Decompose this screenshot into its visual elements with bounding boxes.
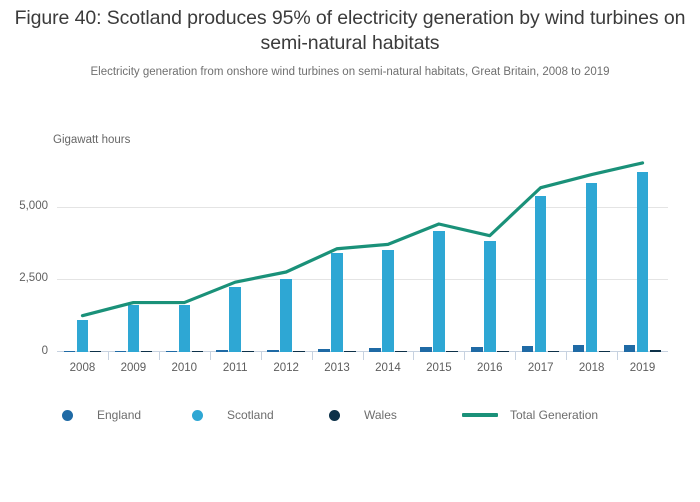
x-axis-tick-label-2009: 2009 — [121, 362, 147, 374]
x-axis-tick-separator — [515, 352, 516, 360]
legend-item-total-generation[interactable]: Total Generation — [462, 404, 598, 426]
bar-group — [115, 160, 153, 352]
legend-item-label: Scotland — [227, 408, 274, 422]
y-axis-tick-label: 5,000 — [0, 200, 48, 212]
bar-england-2018[interactable] — [573, 345, 585, 352]
x-axis-tick-separator — [363, 352, 364, 360]
x-axis-tick-separator — [617, 352, 618, 360]
x-axis-tick-label-2015: 2015 — [426, 362, 452, 374]
bar-scotland-2010[interactable] — [179, 305, 191, 352]
bar-group — [624, 160, 662, 352]
bar-scotland-2009[interactable] — [128, 305, 140, 352]
y-axis-unit-label: Gigawatt hours — [53, 134, 130, 146]
legend-dot-swatch — [62, 410, 73, 421]
chart-title: Figure 40: Scotland produces 95% of elec… — [0, 6, 700, 56]
bar-england-2019[interactable] — [624, 345, 636, 352]
plot-area — [57, 160, 668, 352]
bar-group — [420, 160, 458, 352]
bar-group — [369, 160, 407, 352]
legend-dot-swatch — [329, 410, 340, 421]
x-axis-tick-label-2014: 2014 — [375, 362, 401, 374]
bar-group — [522, 160, 560, 352]
y-axis-tick-label: 2,500 — [0, 272, 48, 284]
bar-scotland-2019[interactable] — [637, 172, 649, 352]
bars-layer — [57, 160, 668, 352]
x-axis-tick-label-2010: 2010 — [171, 362, 197, 374]
chart-legend: EnglandScotlandWalesTotal Generation — [57, 404, 668, 426]
x-axis-tick-separator — [566, 352, 567, 360]
x-axis-tick-separator — [159, 352, 160, 360]
x-axis-tick-separator — [261, 352, 262, 360]
legend-item-scotland[interactable]: Scotland — [192, 404, 274, 426]
bar-scotland-2011[interactable] — [229, 287, 241, 352]
x-axis-tick-label-2011: 2011 — [223, 362, 248, 374]
x-axis-tick-label-2013: 2013 — [324, 362, 350, 374]
x-axis-tick-label-2016: 2016 — [477, 362, 503, 374]
bar-scotland-2018[interactable] — [586, 183, 598, 352]
bar-scotland-2016[interactable] — [484, 241, 496, 352]
x-axis-tick-separator — [413, 352, 414, 360]
title-block: Figure 40: Scotland produces 95% of elec… — [0, 6, 700, 80]
x-axis-tick-separator — [210, 352, 211, 360]
bar-group — [64, 160, 102, 352]
legend-dot-swatch — [192, 410, 203, 421]
bar-group — [471, 160, 509, 352]
legend-item-england[interactable]: England — [62, 404, 141, 426]
bar-scotland-2013[interactable] — [331, 253, 343, 352]
x-axis-tick-separator — [108, 352, 109, 360]
x-axis-tick-label-2018: 2018 — [579, 362, 605, 374]
bar-scotland-2008[interactable] — [77, 320, 89, 352]
bar-scotland-2012[interactable] — [280, 279, 292, 352]
bar-group — [166, 160, 204, 352]
figure-container: Figure 40: Scotland produces 95% of elec… — [0, 0, 700, 502]
x-axis-tick-separator — [312, 352, 313, 360]
legend-line-swatch — [462, 413, 498, 417]
bar-scotland-2017[interactable] — [535, 196, 547, 352]
bar-group — [267, 160, 305, 352]
bar-group — [318, 160, 356, 352]
legend-item-label: Total Generation — [510, 408, 598, 422]
x-axis-tick-label-2019: 2019 — [630, 362, 656, 374]
bar-scotland-2014[interactable] — [382, 250, 394, 352]
bar-group — [216, 160, 254, 352]
legend-item-label: Wales — [364, 408, 397, 422]
x-axis-tick-label-2008: 2008 — [70, 362, 96, 374]
x-axis-tick-label-2012: 2012 — [273, 362, 299, 374]
legend-item-wales[interactable]: Wales — [329, 404, 397, 426]
bar-scotland-2015[interactable] — [433, 231, 445, 352]
x-axis: 2008200920102011201220132014201520162017… — [57, 352, 668, 378]
bar-group — [573, 160, 611, 352]
x-axis-tick-separator — [464, 352, 465, 360]
legend-item-label: England — [97, 408, 141, 422]
y-axis-tick-label: 0 — [0, 345, 48, 357]
x-axis-tick-label-2017: 2017 — [528, 362, 554, 374]
chart-subtitle: Electricity generation from onshore wind… — [0, 65, 700, 80]
